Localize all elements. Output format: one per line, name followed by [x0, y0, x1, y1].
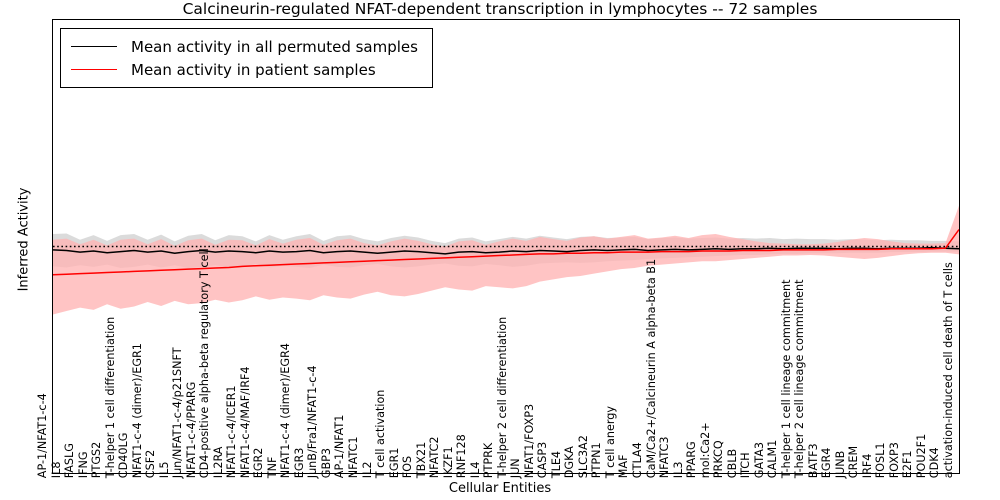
patient-band [53, 206, 959, 315]
chart-legend: Mean activity in all permuted samples Me… [60, 28, 433, 88]
legend-line-permuted-icon [71, 46, 117, 47]
y-axis-label: Inferred Activity [17, 130, 32, 350]
x-category-label: AP-1/NFAT1-c-4 [37, 393, 48, 478]
legend-label-permuted: Mean activity in all permuted samples [131, 38, 418, 56]
x-axis-label: Cellular Entities [0, 481, 1000, 496]
legend-line-patient-icon [71, 69, 117, 70]
legend-label-patient: Mean activity in patient samples [131, 61, 376, 79]
figure: Calcineurin-regulated NFAT-dependent tra… [0, 0, 1000, 500]
legend-item-patient: Mean activity in patient samples [71, 58, 418, 81]
legend-item-permuted: Mean activity in all permuted samples [71, 35, 418, 58]
chart-title: Calcineurin-regulated NFAT-dependent tra… [0, 0, 1000, 18]
